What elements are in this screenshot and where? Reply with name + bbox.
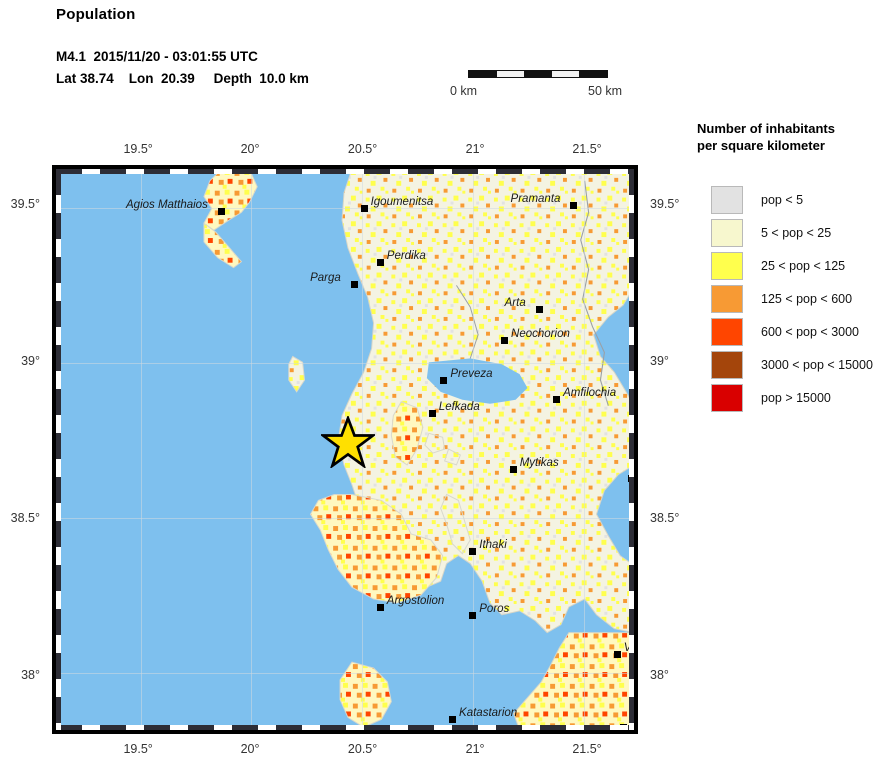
- axis-tick-label: 21.5°: [572, 742, 601, 756]
- city-dot-icon: [570, 202, 577, 209]
- city-dot-icon: [469, 548, 476, 555]
- graticule-line-vertical: [141, 169, 142, 730]
- legend-title-line2: per square kilometer: [697, 137, 869, 154]
- legend-label: 5 < pop < 25: [761, 226, 831, 240]
- axis-tick-label: 21.5°: [572, 142, 601, 156]
- legend-item: pop > 15000: [697, 381, 875, 414]
- map-frame: Agios MatthaiosIgoumenitsaPerdikaPargaPr…: [52, 165, 638, 734]
- legend-item: 600 < pop < 3000: [697, 315, 875, 348]
- legend-label: 3000 < pop < 15000: [761, 358, 873, 372]
- scale-segment: [469, 71, 497, 77]
- city-label: Poros: [479, 603, 509, 615]
- city-dot-icon: [469, 612, 476, 619]
- city-label: Ithaki: [479, 539, 507, 551]
- axis-tick-label: 21°: [466, 742, 485, 756]
- legend-label: 125 < pop < 600: [761, 292, 852, 306]
- city-label: Perdika: [387, 250, 426, 262]
- city-label: Katastarion: [459, 707, 517, 719]
- city-dot-icon: [218, 208, 225, 215]
- legend-swatch: [711, 384, 743, 412]
- city-dot-icon: [377, 604, 384, 611]
- scale-label-max: 50 km: [588, 84, 622, 98]
- axis-tick-label: 20°: [241, 142, 260, 156]
- scale-segment: [579, 71, 607, 77]
- legend-label: pop > 15000: [761, 391, 831, 405]
- axis-tick-label: 21°: [466, 142, 485, 156]
- city-dot-icon: [501, 337, 508, 344]
- scale-segment: [552, 71, 580, 77]
- city-label: Agios Matthaios: [126, 199, 208, 211]
- legend-swatch: [711, 186, 743, 214]
- city-label: Pramanta: [511, 193, 561, 205]
- axis-tick-label: 20.5°: [348, 742, 377, 756]
- city-label: Preveza: [450, 368, 492, 380]
- graticule-line-vertical: [473, 169, 474, 730]
- earthquake-summary-line: M4.1 2015/11/20 - 03:01:55 UTC: [56, 49, 258, 64]
- graticule-line-horizontal: [56, 518, 634, 519]
- city-label: Igoumenitsa: [371, 196, 434, 208]
- city-dot-icon: [440, 377, 447, 384]
- graticule-line-horizontal: [56, 363, 634, 364]
- city-dot-icon: [377, 259, 384, 266]
- city-label: Parga: [310, 272, 341, 284]
- legend-swatch: [711, 219, 743, 247]
- legend-item: 5 < pop < 25: [697, 216, 875, 249]
- graticule-line-vertical: [584, 169, 585, 730]
- axis-tick-label: 20.5°: [348, 142, 377, 156]
- legend-label: 600 < pop < 3000: [761, 325, 859, 339]
- axis-tick-label: 19.5°: [123, 142, 152, 156]
- axis-tick-label: 38.5°: [650, 511, 679, 525]
- axis-tick-label: 19.5°: [123, 742, 152, 756]
- axis-tick-label: 38°: [21, 668, 40, 682]
- graticule-line-vertical: [251, 169, 252, 730]
- scale-label-min: 0 km: [450, 84, 477, 98]
- legend-item-list: pop < 55 < pop < 2525 < pop < 125125 < p…: [697, 183, 875, 414]
- city-dot-icon: [631, 553, 638, 560]
- city-dot-icon: [361, 205, 368, 212]
- city-label: Argostolion: [387, 595, 445, 607]
- legend-swatch: [711, 252, 743, 280]
- legend-item: 25 < pop < 125: [697, 249, 875, 282]
- legend-title-line1: Number of inhabitants: [697, 120, 869, 137]
- legend-swatch: [711, 318, 743, 346]
- axis-tick-label: 20°: [241, 742, 260, 756]
- page-title: Population: [56, 6, 136, 23]
- city-dot-icon: [536, 306, 543, 313]
- city-dot-icon: [628, 475, 635, 482]
- legend-item: 125 < pop < 600: [697, 282, 875, 315]
- scale-segment: [497, 71, 525, 77]
- city-label: Neochorion: [511, 328, 570, 340]
- axis-tick-label: 38.5°: [11, 511, 40, 525]
- city-dot-icon: [510, 466, 517, 473]
- legend-item: pop < 5: [697, 183, 875, 216]
- graticule-line-horizontal: [56, 673, 634, 674]
- map-container[interactable]: Agios MatthaiosIgoumenitsaPerdikaPargaPr…: [52, 165, 638, 734]
- earthquake-location-line: Lat 38.74 Lon 20.39 Depth 10.0 km: [56, 71, 309, 86]
- axis-tick-label: 39°: [650, 354, 669, 368]
- legend-item: 3000 < pop < 15000: [697, 348, 875, 381]
- legend-title: Number of inhabitants per square kilomet…: [697, 120, 869, 154]
- city-label: Amalia: [630, 715, 638, 727]
- legend-swatch: [711, 351, 743, 379]
- city-label: Lefkada: [439, 401, 480, 413]
- map-scale-bar: [468, 70, 608, 78]
- city-dot-icon: [429, 410, 436, 417]
- city-label: Varda: [624, 642, 638, 654]
- city-label: Arta: [505, 297, 526, 309]
- city-dot-icon: [620, 724, 627, 731]
- city-dot-icon: [553, 396, 560, 403]
- city-dot-icon: [351, 281, 358, 288]
- axis-tick-label: 39°: [21, 354, 40, 368]
- city-label: Amfilochia: [563, 387, 616, 399]
- header-block: Population: [56, 6, 136, 23]
- scale-segment: [524, 71, 552, 77]
- legend-label: 25 < pop < 125: [761, 259, 845, 273]
- city-label: Mytikas: [520, 457, 559, 469]
- legend-swatch: [711, 285, 743, 313]
- epicenter-star-icon: [321, 416, 375, 468]
- city-dot-icon: [614, 651, 621, 658]
- axis-tick-label: 39.5°: [11, 197, 40, 211]
- legend-panel: Number of inhabitants per square kilomet…: [697, 120, 875, 414]
- city-dot-icon: [449, 716, 456, 723]
- legend-label: pop < 5: [761, 193, 803, 207]
- axis-tick-label: 39.5°: [650, 197, 679, 211]
- axis-tick-label: 38°: [650, 668, 669, 682]
